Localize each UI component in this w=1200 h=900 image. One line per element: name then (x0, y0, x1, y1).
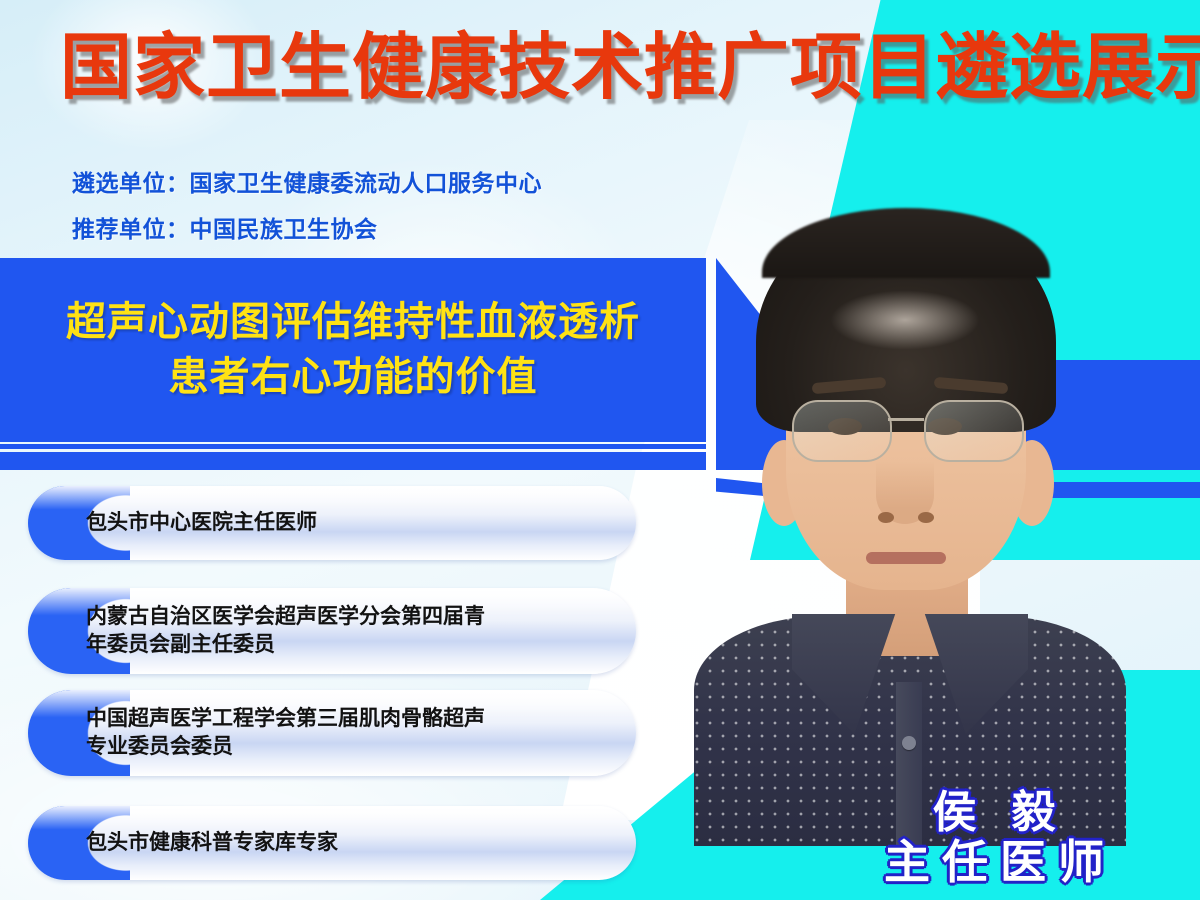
mouth (866, 552, 946, 564)
divider-thick (0, 452, 706, 470)
credential-text: 包头市中心医院主任医师 (28, 486, 636, 560)
lens-right (924, 400, 1024, 462)
glasses-icon (792, 400, 1020, 462)
topic-line-2: 患者右心功能的价值 (169, 353, 538, 402)
selection-organization-line: 遴选单位：国家卫生健康委流动人口服务中心 (72, 164, 542, 198)
credential-text: 内蒙古自治区医学会超声医学分会第四届青 年委员会副主任委员 (28, 588, 636, 674)
credential-line-2: 专业委员会委员 (86, 733, 485, 761)
credential-item: 包头市健康科普专家库专家 (28, 806, 636, 880)
nostril-right (918, 512, 934, 523)
credential-line-1: 内蒙古自治区医学会超声医学分会第四届青 (86, 603, 485, 631)
nostril-left (878, 512, 894, 523)
forehead-highlight (830, 290, 980, 350)
page-title: 国家卫生健康技术推广项目遴选展示 (60, 32, 1150, 104)
lens-left (792, 400, 892, 462)
credential-line-2: 年委员会副主任委员 (86, 631, 485, 659)
speaker-role: 主任医师 (820, 837, 1180, 889)
credential-line-1: 中国超声医学工程学会第三届肌肉骨骼超声 (86, 705, 485, 733)
poster-canvas: 国家卫生健康技术推广项目遴选展示 遴选单位：国家卫生健康委流动人口服务中心 推荐… (0, 0, 1200, 900)
credential-text: 包头市健康科普专家库专家 (28, 806, 636, 880)
credential-text: 中国超声医学工程学会第三届肌肉骨骼超声 专业委员会委员 (28, 690, 636, 776)
credential-item: 中国超声医学工程学会第三届肌肉骨骼超声 专业委员会委员 (28, 690, 636, 776)
divider-thin (0, 444, 706, 449)
credential-item: 内蒙古自治区医学会超声医学分会第四届青 年委员会副主任委员 (28, 588, 636, 674)
credential-line-1: 包头市中心医院主任医师 (86, 509, 317, 537)
speaker-name: 侯 毅 (820, 788, 1180, 837)
topic-banner: 超声心动图评估维持性血液透析 患者右心功能的价值 (0, 258, 706, 442)
glasses-bridge (888, 418, 924, 421)
speaker-name-block: 侯 毅 主任医师 (820, 788, 1180, 889)
shirt-button (902, 736, 916, 750)
topic-line-1: 超声心动图评估维持性血液透析 (66, 298, 640, 347)
credential-item: 包头市中心医院主任医师 (28, 486, 636, 560)
speaker-portrait (700, 212, 1120, 822)
credential-line-1: 包头市健康科普专家库专家 (86, 829, 338, 857)
recommending-organization-line: 推荐单位：中国民族卫生协会 (72, 210, 378, 244)
hair-highlight (762, 208, 1050, 278)
